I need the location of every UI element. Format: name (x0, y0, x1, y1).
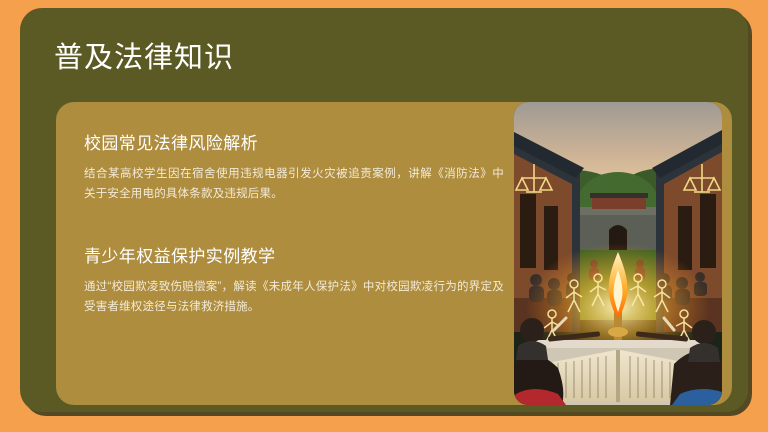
illustration-image (514, 102, 722, 405)
content-block: 校园常见法律风险解析 结合某高校学生因在宿舍使用违规电器引发火灾被追责案例，讲解… (84, 132, 514, 204)
block-heading-1: 校园常见法律风险解析 (84, 132, 514, 156)
block-heading-2: 青少年权益保护实例教学 (84, 245, 514, 269)
slide-surface: 普及法律知识 校园常见法律风险解析 结合某高校学生因在宿舍使用违规电器引发火灾被… (20, 8, 748, 412)
content-text-column: 校园常见法律风险解析 结合某高校学生因在宿舍使用违规电器引发火灾被追责案例，讲解… (84, 132, 514, 317)
block-body-1: 结合某高校学生因在宿舍使用违规电器引发火灾被追责案例，讲解《消防法》中关于安全用… (84, 165, 504, 204)
content-card: 校园常见法律风险解析 结合某高校学生因在宿舍使用违规电器引发火灾被追责案例，讲解… (56, 102, 732, 405)
block-body-2: 通过“校园欺凌致伤赔偿案”，解读《未成年人保护法》中对校园欺凌行为的界定及受害者… (84, 278, 504, 317)
page-title: 普及法律知识 (54, 41, 234, 75)
content-block: 青少年权益保护实例教学 通过“校园欺凌致伤赔偿案”，解读《未成年人保护法》中对校… (84, 245, 514, 317)
slide-canvas: 普及法律知识 校园常见法律风险解析 结合某高校学生因在宿舍使用违规电器引发火灾被… (0, 0, 768, 432)
courtyard-illustration-svg (514, 102, 722, 405)
